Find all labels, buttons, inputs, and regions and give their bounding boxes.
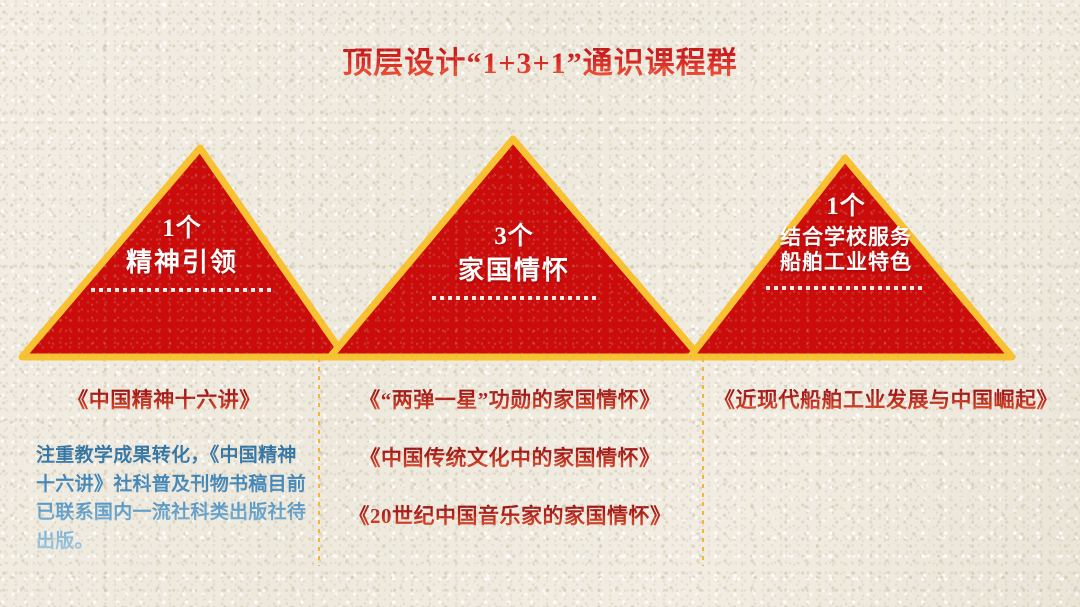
- pyramid-3-count: 1个: [742, 192, 950, 223]
- pyramid-3-label: 1个 结合学校服务 船舶工业特色: [742, 192, 950, 290]
- book-title: 《中国传统文化中的家国情怀》: [324, 442, 696, 472]
- page-title: 顶层设计“1+3+1”通识课程群: [0, 38, 1080, 82]
- column-divider-left: [318, 358, 320, 566]
- book-title: 《“两弹一星”功勋的家国情怀》: [324, 384, 696, 414]
- pyramid-1-count: 1个: [78, 214, 286, 245]
- pyramid-1-subtitle: 精神引领: [78, 247, 286, 279]
- pyramid-3-subtitle-line-1: 结合学校服务: [742, 225, 950, 251]
- pyramid-2-label: 3个 家国情怀: [410, 222, 618, 300]
- column-left: 《中国精神十六讲》 注重教学成果转化，《中国精神十六讲》社科普及刊物书稿目前已联…: [14, 384, 314, 556]
- book-title: 《中国精神十六讲》: [14, 384, 314, 414]
- column-right: 《近现代船舶工业发展与中国崛起》: [706, 384, 1066, 414]
- dotted-rule-icon: [432, 296, 597, 300]
- column-left-note: 注重教学成果转化，《中国精神十六讲》社科普及刊物书稿目前已联系国内一流社科类出版…: [14, 442, 314, 556]
- slide-canvas: 顶层设计“1+3+1”通识课程群 1个 精神引领 3个 家国情怀 1个 结合学校…: [0, 0, 1080, 607]
- pyramid-1-label: 1个 精神引领: [78, 214, 286, 292]
- dotted-rule-icon: [91, 288, 273, 292]
- pyramid-3-subtitle-line-2: 船舶工业特色: [742, 250, 950, 276]
- column-divider-right: [702, 358, 704, 566]
- book-title: 《近现代船舶工业发展与中国崛起》: [706, 384, 1066, 414]
- column-middle: 《“两弹一星”功勋的家国情怀》 《中国传统文化中的家国情怀》 《20世纪中国音乐…: [324, 384, 696, 530]
- pyramid-2-subtitle: 家国情怀: [410, 255, 618, 287]
- pyramid-2-count: 3个: [410, 222, 618, 253]
- book-title: 《20世纪中国音乐家的家国情怀》: [324, 500, 696, 530]
- dotted-rule-icon: [766, 286, 926, 290]
